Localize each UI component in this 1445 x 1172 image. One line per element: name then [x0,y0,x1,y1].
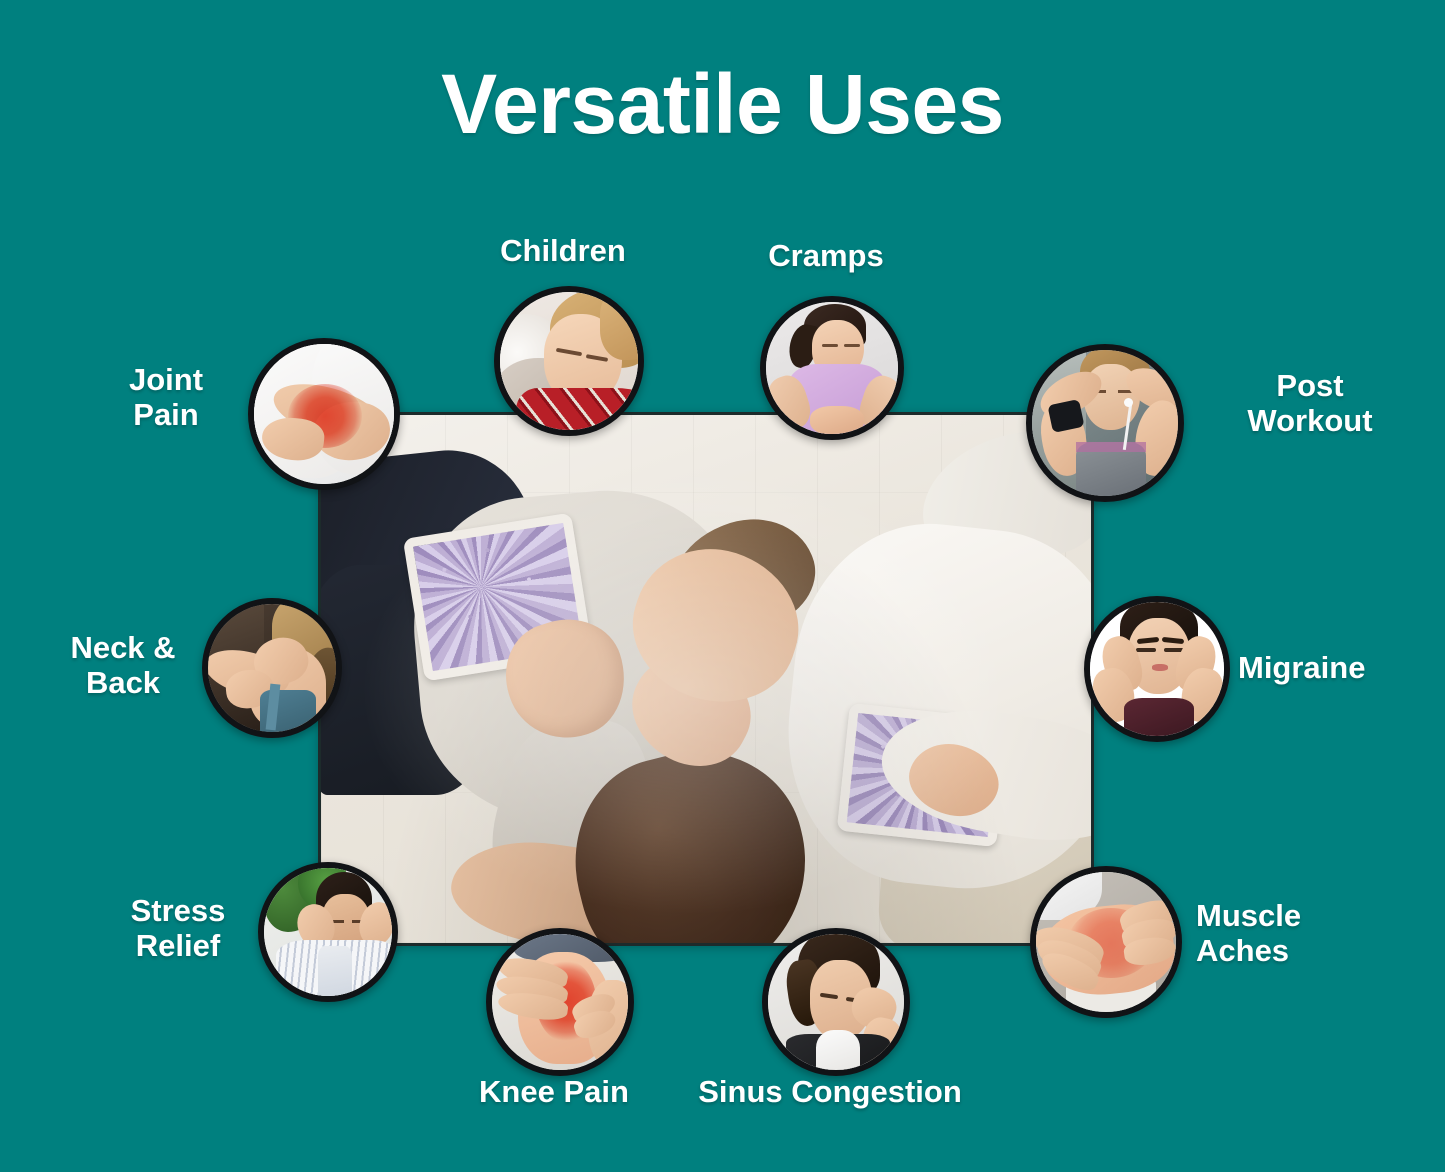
knee-pain-photo [492,934,628,1070]
children-photo [500,292,638,430]
badge-migraine[interactable] [1084,596,1230,742]
badge-cramps[interactable] [760,296,904,440]
badge-neck-and-back[interactable] [202,598,342,738]
badge-label-sinus-congestion: Sinus Congestion [690,1074,970,1109]
badge-sinus-congestion[interactable] [762,928,910,1076]
neck-back-photo [208,604,336,732]
badge-label-knee-pain: Knee Pain [434,1074,674,1109]
badge-muscle-aches[interactable] [1030,866,1182,1018]
badge-stress-relief[interactable] [258,862,398,1002]
badge-label-muscle-aches: Muscle Aches [1196,898,1406,968]
migraine-photo [1090,602,1224,736]
sinus-congestion-photo [768,934,904,1070]
badge-label-post-workout: Post Workout [1190,368,1430,438]
hero-product-photo [318,412,1094,946]
infographic-canvas: Versatile Uses [0,0,1445,1172]
post-workout-photo [1032,350,1178,496]
cramps-photo [766,302,898,434]
badge-label-neck-and-back: Neck & Back [38,630,208,700]
stress-relief-photo [264,868,392,996]
badge-label-children: Children [443,233,683,268]
badge-post-workout[interactable] [1026,344,1184,502]
badge-joint-pain[interactable] [248,338,400,490]
badge-label-joint-pain: Joint Pain [86,362,246,432]
badge-children[interactable] [494,286,644,436]
badge-knee-pain[interactable] [486,928,634,1076]
badge-label-migraine: Migraine [1238,650,1438,685]
page-title: Versatile Uses [0,62,1445,146]
badge-label-stress-relief: Stress Relief [94,893,262,963]
joint-pain-photo [254,344,394,484]
hero-vignette [321,415,1091,943]
badge-label-cramps: Cramps [706,238,946,273]
muscle-aches-photo [1036,872,1176,1012]
